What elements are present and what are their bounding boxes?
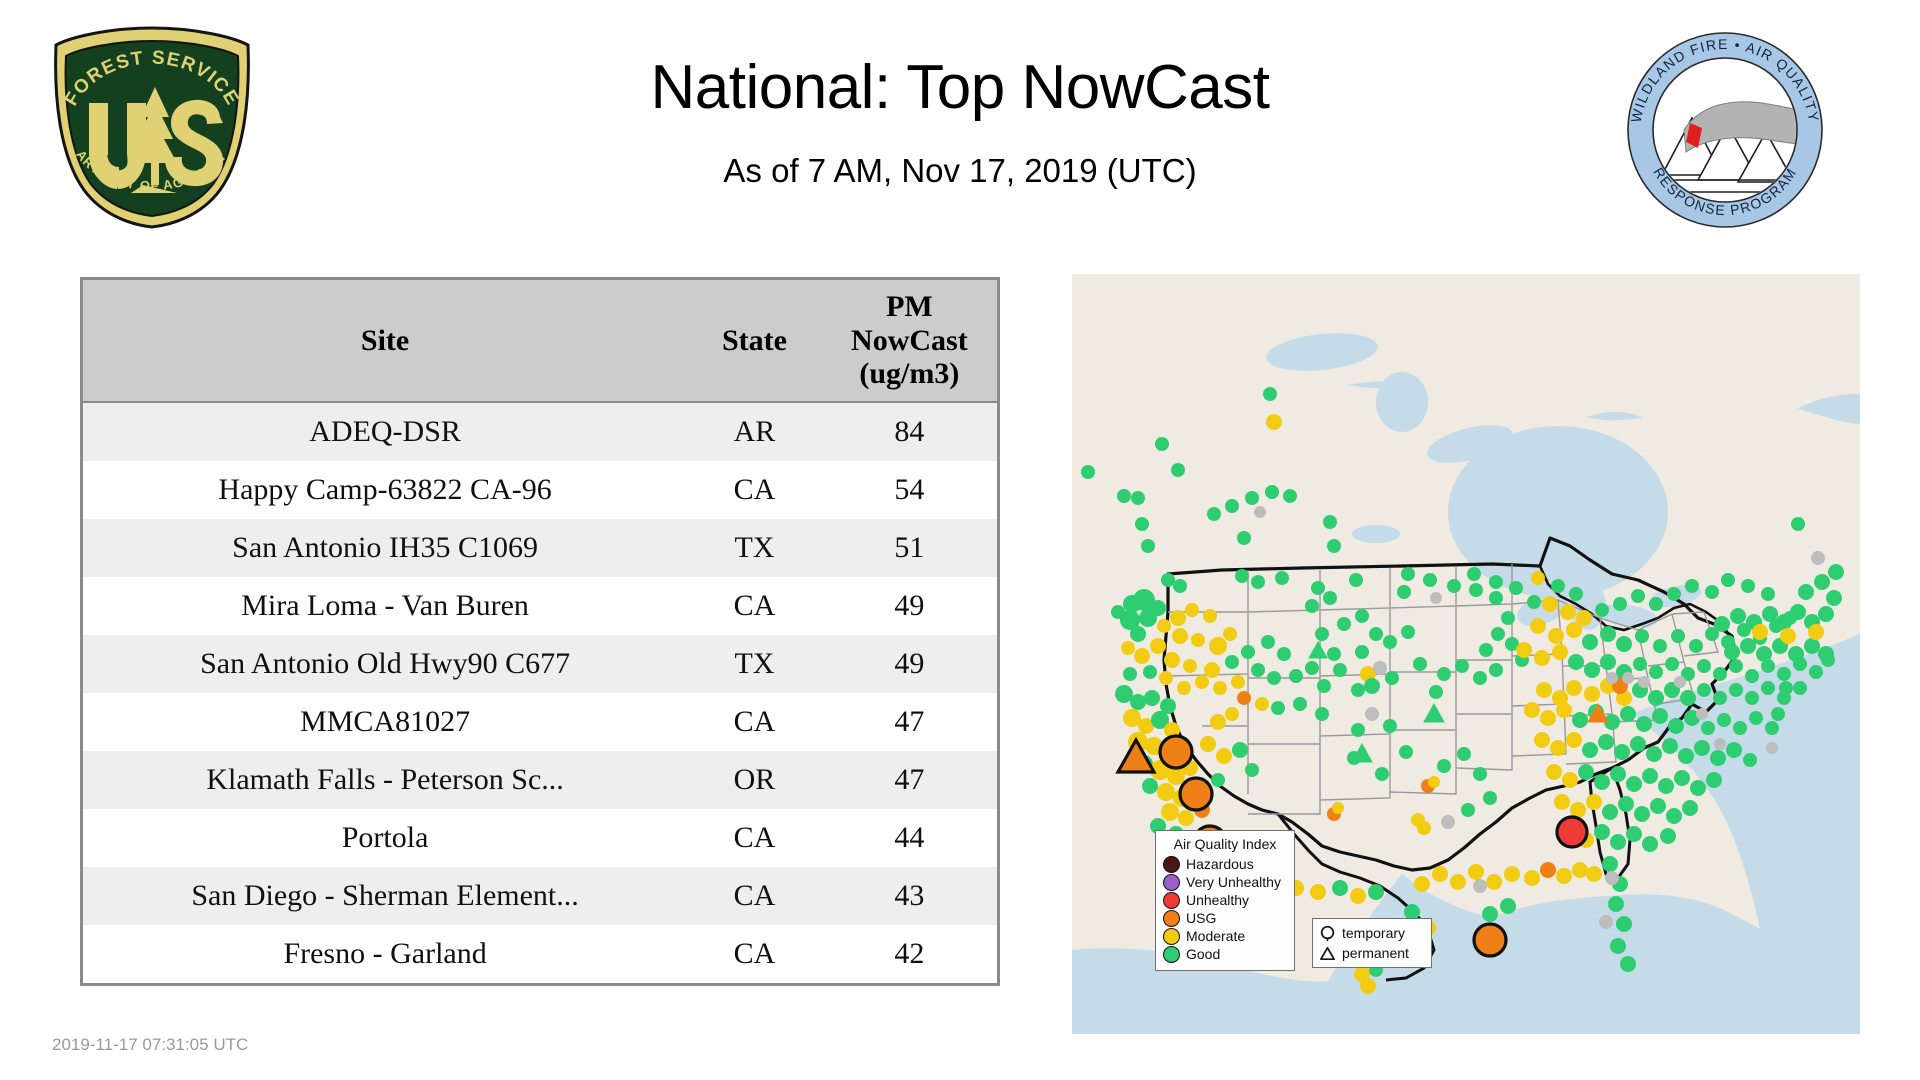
hazardous-swatch-icon bbox=[1163, 856, 1180, 873]
legend-label: temporary bbox=[1342, 925, 1405, 941]
page-subtitle: As of 7 AM, Nov 17, 2019 (UTC) bbox=[360, 152, 1560, 190]
column-header-pm-nowcast[interactable]: PM NowCast (ug/m3) bbox=[822, 280, 997, 402]
cell-site: Mira Loma - Van Buren bbox=[83, 577, 687, 635]
legend-label: Good bbox=[1186, 946, 1220, 962]
cell-site: San Antonio IH35 C1069 bbox=[83, 519, 687, 577]
legend-item-temporary[interactable]: temporary bbox=[1319, 923, 1425, 943]
good-swatch-icon bbox=[1163, 946, 1180, 963]
table-row[interactable]: San Antonio Old Hwy90 C677 TX 49 bbox=[83, 635, 997, 693]
cell-value: 51 bbox=[822, 519, 997, 577]
slide-root: FOREST SERVICE DEPARTMENT OF AGRICULTURE… bbox=[0, 0, 1920, 1080]
very-unhealthy-swatch-icon bbox=[1163, 874, 1180, 891]
table-header-row: Site State PM NowCast (ug/m3) bbox=[83, 280, 997, 402]
cell-value: 42 bbox=[822, 925, 997, 983]
legend-item-moderate[interactable]: Moderate bbox=[1163, 927, 1287, 945]
cell-value: 44 bbox=[822, 809, 997, 867]
cell-value: 49 bbox=[822, 635, 997, 693]
cell-state: CA bbox=[687, 867, 822, 925]
cell-state: CA bbox=[687, 693, 822, 751]
cell-state: CA bbox=[687, 577, 822, 635]
top-marker-happy-camp bbox=[1160, 736, 1192, 768]
legend-label: Hazardous bbox=[1186, 856, 1254, 872]
usg-swatch-icon bbox=[1163, 910, 1180, 927]
cell-value: 84 bbox=[822, 402, 997, 461]
wildland-fire-air-quality-logo: WILDLAND FIRE • AIR QUALITY RESPONSE PRO… bbox=[1620, 30, 1830, 230]
table-row[interactable]: Fresno - Garland CA 42 bbox=[83, 925, 997, 983]
legend-label: permanent bbox=[1342, 945, 1409, 961]
legend-item-unhealthy[interactable]: Unhealthy bbox=[1163, 891, 1287, 909]
cell-value: 54 bbox=[822, 461, 997, 519]
legend-item-permanent[interactable]: permanent bbox=[1319, 943, 1425, 963]
legend-label: Moderate bbox=[1186, 928, 1245, 944]
cell-site: San Antonio Old Hwy90 C677 bbox=[83, 635, 687, 693]
cell-state: CA bbox=[687, 925, 822, 983]
table-row[interactable]: San Diego - Sherman Element... CA 43 bbox=[83, 867, 997, 925]
legend-label: Very Unhealthy bbox=[1186, 874, 1281, 890]
legend-label: USG bbox=[1186, 910, 1216, 926]
top-marker-san-antonio bbox=[1474, 924, 1506, 956]
column-header-pm-line1: PM bbox=[826, 290, 993, 324]
cell-state: TX bbox=[687, 519, 822, 577]
legend-item-very-unhealthy[interactable]: Very Unhealthy bbox=[1163, 873, 1287, 891]
cell-site: Fresno - Garland bbox=[83, 925, 687, 983]
cell-state: OR bbox=[687, 751, 822, 809]
legend-item-hazardous[interactable]: Hazardous bbox=[1163, 855, 1287, 873]
legend-label: Unhealthy bbox=[1186, 892, 1249, 908]
cell-state: CA bbox=[687, 461, 822, 519]
table-row[interactable]: Klamath Falls - Peterson Sc... OR 47 bbox=[83, 751, 997, 809]
map-legend-air-quality-index: Air Quality Index Hazardous Very Unhealt… bbox=[1155, 830, 1295, 971]
table-row[interactable]: MMCA81027 CA 47 bbox=[83, 693, 997, 751]
us-forest-service-logo: FOREST SERVICE DEPARTMENT OF AGRICULTURE bbox=[45, 25, 260, 230]
cell-site: Klamath Falls - Peterson Sc... bbox=[83, 751, 687, 809]
column-header-pm-line3: (ug/m3) bbox=[826, 357, 993, 391]
cell-state: TX bbox=[687, 635, 822, 693]
moderate-swatch-icon bbox=[1163, 928, 1180, 945]
cell-site: ADEQ-DSR bbox=[83, 402, 687, 461]
cell-state: AR bbox=[687, 402, 822, 461]
cell-value: 47 bbox=[822, 693, 997, 751]
triangle-icon bbox=[1319, 945, 1336, 962]
top-marker-portola bbox=[1180, 778, 1212, 810]
table-row[interactable]: ADEQ-DSR AR 84 bbox=[83, 402, 997, 461]
legend-title: Air Quality Index bbox=[1163, 836, 1287, 852]
cell-site: Portola bbox=[83, 809, 687, 867]
map-legend-site-type: temporary permanent bbox=[1312, 918, 1432, 968]
cell-site: Happy Camp-63822 CA-96 bbox=[83, 461, 687, 519]
cell-value: 47 bbox=[822, 751, 997, 809]
cell-value: 43 bbox=[822, 867, 997, 925]
cell-state: CA bbox=[687, 809, 822, 867]
column-header-state[interactable]: State bbox=[687, 280, 822, 402]
table-row[interactable]: San Antonio IH35 C1069 TX 51 bbox=[83, 519, 997, 577]
column-header-site[interactable]: Site bbox=[83, 280, 687, 402]
cell-site: MMCA81027 bbox=[83, 693, 687, 751]
legend-item-usg[interactable]: USG bbox=[1163, 909, 1287, 927]
top-marker-adeq-dsr bbox=[1557, 817, 1587, 847]
circle-icon bbox=[1319, 925, 1336, 942]
table-row[interactable]: Mira Loma - Van Buren CA 49 bbox=[83, 577, 997, 635]
cell-value: 49 bbox=[822, 577, 997, 635]
column-header-pm-line2: NowCast bbox=[826, 324, 993, 358]
table-row[interactable]: Happy Camp-63822 CA-96 CA 54 bbox=[83, 461, 997, 519]
cell-site: San Diego - Sherman Element... bbox=[83, 867, 687, 925]
top-nowcast-table: Site State PM NowCast (ug/m3) ADEQ-DSR A… bbox=[80, 277, 1000, 986]
legend-item-good[interactable]: Good bbox=[1163, 945, 1287, 963]
unhealthy-swatch-icon bbox=[1163, 892, 1180, 909]
footer-timestamp: 2019-11-17 07:31:05 UTC bbox=[52, 1035, 248, 1055]
table-row[interactable]: Portola CA 44 bbox=[83, 809, 997, 867]
page-title: National: Top NowCast bbox=[360, 55, 1560, 120]
